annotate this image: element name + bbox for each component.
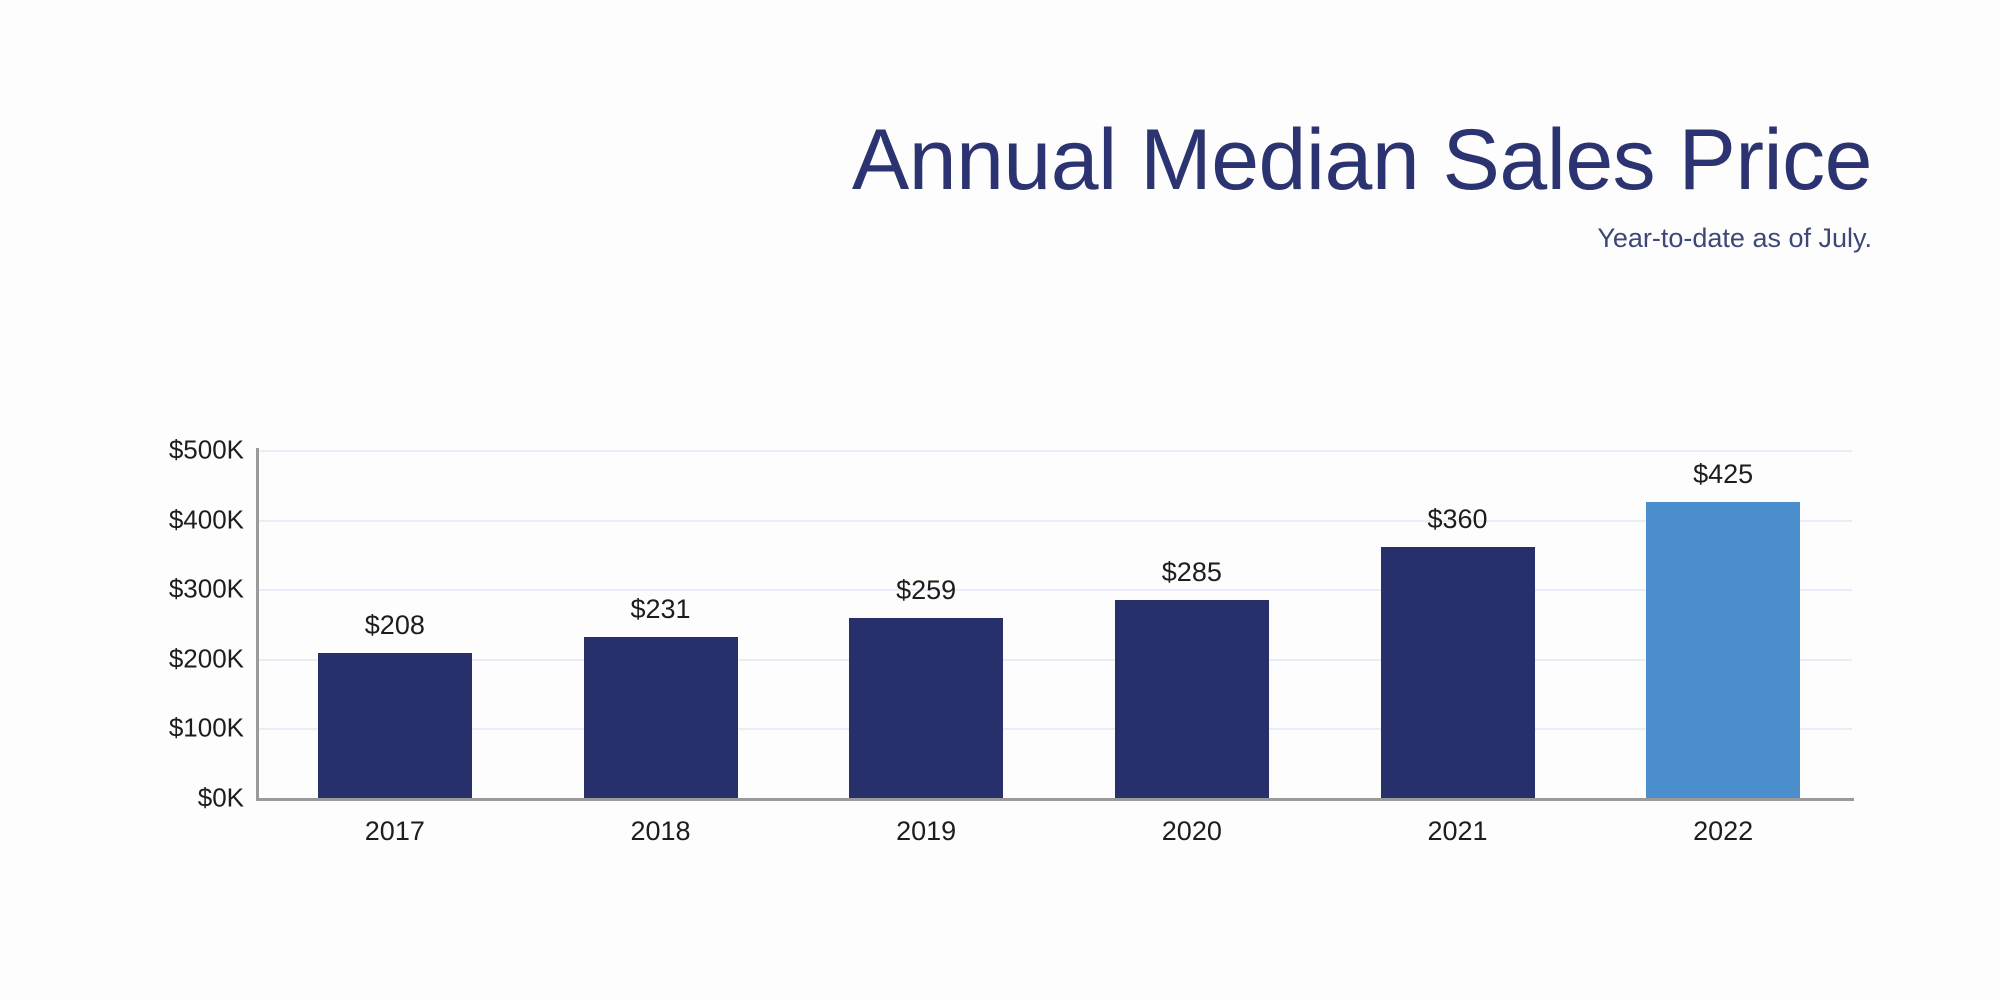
x-axis-tick-label-2022: 2022 (1646, 816, 1800, 847)
chart-page: Annual Median Sales Price Year-to-date a… (0, 0, 2000, 1000)
x-axis-tick-label-2021: 2021 (1381, 816, 1535, 847)
y-axis-tick-label: $300K (169, 574, 244, 605)
chart-header: Annual Median Sales Price Year-to-date a… (0, 0, 1872, 254)
bar-group: $360 (1381, 450, 1535, 798)
bar-value-label: $259 (849, 575, 1003, 606)
bar-value-label: $285 (1115, 557, 1269, 588)
bar-value-label: $231 (584, 594, 738, 625)
bar-2019[interactable] (849, 618, 1003, 798)
x-axis-tick-label-2018: 2018 (584, 816, 738, 847)
x-axis-tick-label-2019: 2019 (849, 816, 1003, 847)
page-title: Annual Median Sales Price (0, 0, 1872, 208)
bar-2022[interactable] (1646, 502, 1800, 798)
bar-chart-plot-area: $500K$400K$300K$200K$100K$0K $208$231$25… (258, 450, 1852, 798)
bar-group: $285 (1115, 450, 1269, 798)
x-axis-tick-labels: 201720182019202020212022 (258, 798, 1852, 858)
y-axis-tick-label: $500K (169, 435, 244, 466)
bar-2021[interactable] (1381, 547, 1535, 798)
bar-2020[interactable] (1115, 600, 1269, 798)
bar-2017[interactable] (318, 653, 472, 798)
chart-subtitle: Year-to-date as of July. (0, 208, 1872, 254)
bar-group: $208 (318, 450, 472, 798)
bar-2018[interactable] (584, 637, 738, 798)
bar-value-label: $425 (1646, 459, 1800, 490)
y-axis-tick-label: $0K (198, 783, 244, 814)
y-axis-tick-label: $100K (169, 713, 244, 744)
bar-group: $425 (1646, 450, 1800, 798)
x-axis-tick-label-2017: 2017 (318, 816, 472, 847)
y-axis-tick-label: $200K (169, 643, 244, 674)
bar-value-label: $360 (1381, 504, 1535, 535)
x-axis-tick-label-2020: 2020 (1115, 816, 1269, 847)
bar-group: $231 (584, 450, 738, 798)
y-axis-tick-label: $400K (169, 504, 244, 535)
bar-value-label: $208 (318, 610, 472, 641)
bar-group: $259 (849, 450, 1003, 798)
y-axis-tick-labels: $500K$400K$300K$200K$100K$0K (258, 450, 1852, 798)
